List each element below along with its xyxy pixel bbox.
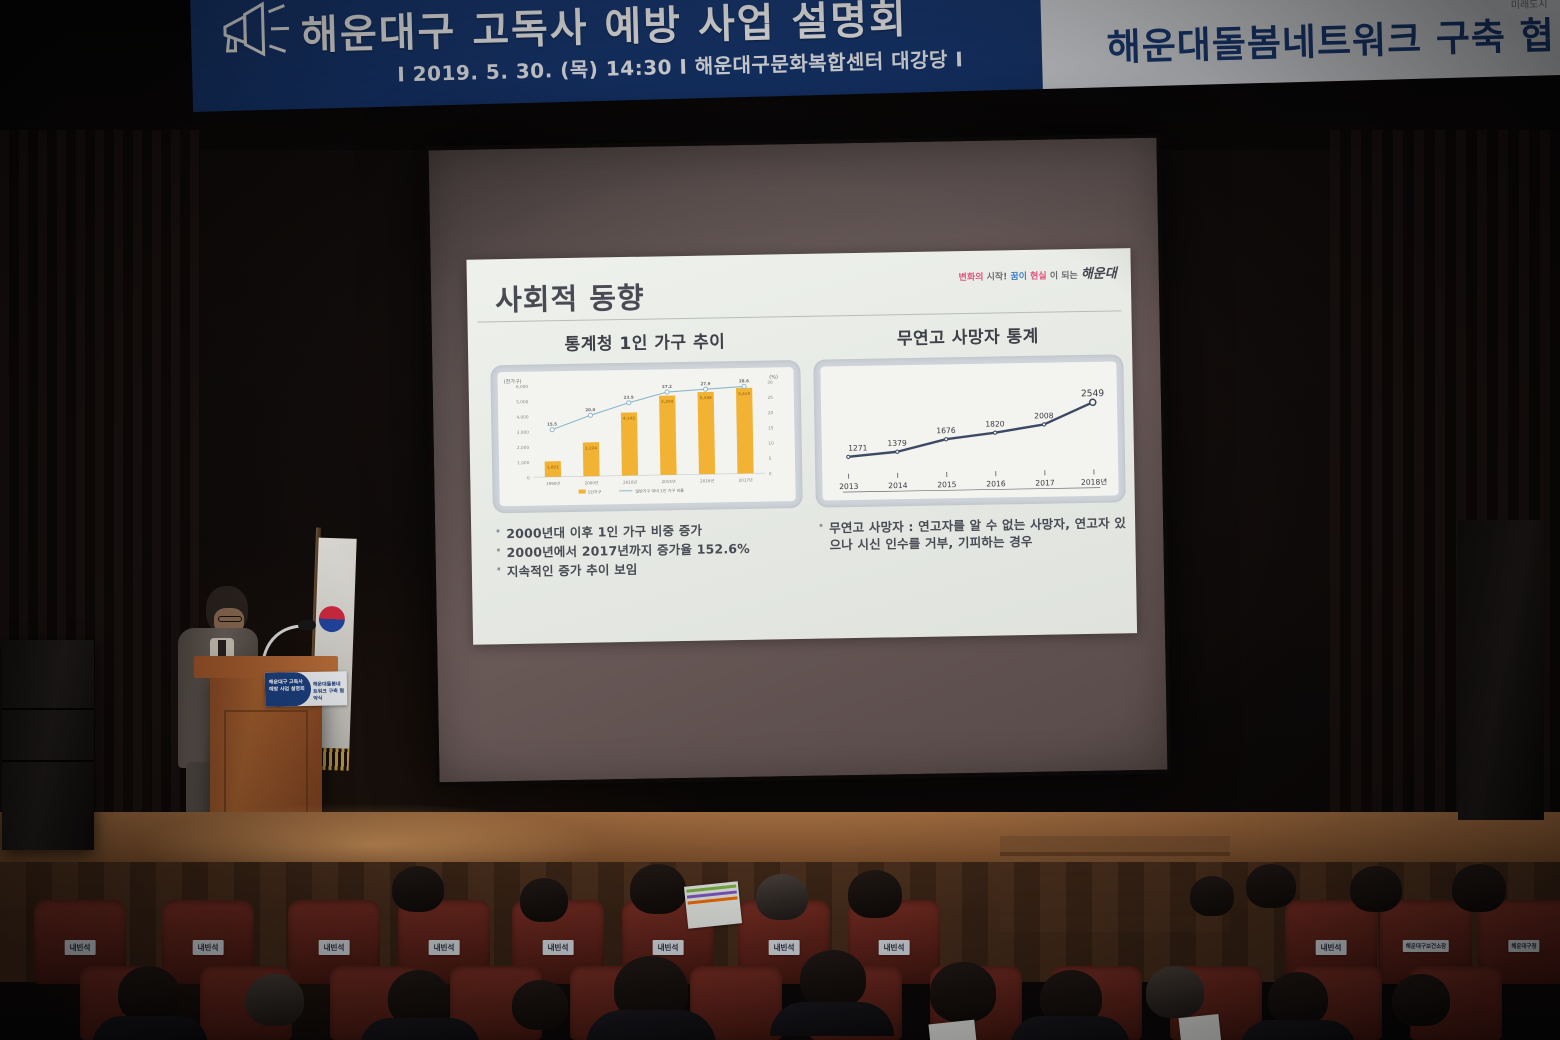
seat-label: 내빈석 (65, 940, 96, 955)
svg-text:2,000: 2,000 (517, 445, 530, 451)
svg-text:4,142: 4,142 (623, 415, 636, 420)
logo-part2: 시작! (987, 272, 1008, 282)
audience-member (520, 878, 568, 922)
svg-text:2015년: 2015년 (662, 478, 676, 484)
audience-shoulders (1240, 1020, 1356, 1040)
slide-title: 사회적 동향 (495, 275, 645, 320)
right-chart-card: 1271137916761820200825492013201420152016… (813, 354, 1126, 507)
audience-member (1246, 864, 1296, 908)
svg-text:30: 30 (767, 380, 773, 386)
svg-text:5,398: 5,398 (700, 395, 713, 400)
svg-text:27.2: 27.2 (662, 384, 672, 389)
logo-part4: 현실 (1030, 272, 1047, 282)
svg-text:2014: 2014 (888, 481, 908, 490)
svg-text:27.9: 27.9 (700, 381, 710, 386)
svg-text:15: 15 (768, 425, 774, 431)
glasses-icon (218, 616, 242, 622)
left-bullet-item: 지속적인 증가 추이 보임 (494, 558, 804, 580)
pa-speaker-left (2, 640, 94, 850)
audience-member (800, 950, 866, 1008)
svg-text:2015: 2015 (937, 480, 957, 489)
seat-label: 내빈석 (319, 940, 350, 955)
lecture-hall-photo: 해운대구 고독사 예방 사업 설명회 Ⅰ 2019. 5. 30. (목) 14… (0, 0, 1560, 1040)
svg-text:2018년: 2018년 (1081, 476, 1107, 486)
svg-text:2000년: 2000년 (585, 479, 599, 485)
svg-text:2,224: 2,224 (585, 445, 598, 450)
seat-label: 해운대구청 (1508, 940, 1539, 952)
left-chart-card: (천가구)(%)6,0005,0004,0003,0002,0001,00003… (490, 360, 803, 513)
svg-text:1820: 1820 (985, 419, 1005, 428)
presentation-slide: 사회적 동향 변화의 시작! 꿈이 현실 이 되는 해운대 통계청 1인 가구 … (466, 248, 1137, 645)
audience-shoulders (586, 1010, 716, 1040)
right-chart-heading: 무연고 사망자 통계 (813, 320, 1123, 350)
svg-text:1990년: 1990년 (546, 480, 560, 486)
svg-text:2017년: 2017년 (739, 476, 753, 482)
svg-text:1,021: 1,021 (547, 464, 560, 469)
svg-text:15.5: 15.5 (547, 422, 557, 427)
svg-text:2549: 2549 (1081, 389, 1105, 399)
seat-label: 내빈석 (429, 940, 460, 955)
audience-seating: 내빈석내빈석내빈석내빈석내빈석내빈석내빈석내빈석내빈석해운대구보건소장해운대구청 (0, 870, 1560, 1040)
svg-text:20.0: 20.0 (585, 407, 595, 412)
audience-member (1190, 876, 1234, 916)
slide-column-left: 통계청 1인 가구 추이 (천가구)(%)6,0005,0004,0003,00… (490, 326, 804, 582)
svg-text:2013: 2013 (839, 482, 859, 491)
audience-shoulders (770, 1002, 894, 1036)
audience-member (930, 962, 996, 1022)
svg-text:2017: 2017 (1035, 478, 1055, 487)
projection-screen: 사회적 동향 변화의 시작! 꿈이 현실 이 되는 해운대 통계청 1인 가구 … (424, 134, 1171, 787)
svg-text:1676: 1676 (936, 426, 956, 435)
audience-member (1146, 966, 1204, 1018)
podium-sign-right-text: 해운대돌봄네트워크 구축 협약식 (313, 681, 345, 703)
svg-text:3,000: 3,000 (517, 430, 530, 436)
logo-part1: 변화의 (959, 273, 984, 283)
audience-member (1268, 972, 1328, 1026)
seat-label: 내빈석 (1316, 940, 1347, 955)
svg-text:1,000: 1,000 (517, 460, 530, 466)
audience-member (848, 870, 902, 918)
audience-shoulders (360, 1018, 480, 1040)
audience-member (756, 874, 808, 920)
audience-member (630, 864, 686, 914)
audience-shoulders (92, 1016, 208, 1040)
svg-text:0: 0 (769, 471, 772, 477)
seat-label: 해운대구보건소장 (1403, 940, 1449, 952)
svg-text:1인가구: 1인가구 (588, 488, 602, 494)
pa-seam-2 (2, 760, 94, 762)
pa-seam-1 (2, 708, 94, 710)
seat-label: 내빈석 (769, 940, 800, 955)
svg-text:23.9: 23.9 (624, 395, 634, 400)
audience-shoulders (1010, 1016, 1130, 1040)
svg-text:28.6: 28.6 (739, 378, 749, 383)
unclaimed-deaths-chart: 1271137916761820200825492013201420152016… (820, 361, 1118, 500)
pa-speaker-right (1458, 520, 1544, 820)
seat-label: 내빈석 (193, 940, 224, 955)
svg-text:일반가구 대비 1인 가구 비율: 일반가구 대비 1인 가구 비율 (635, 487, 684, 494)
svg-text:5,204: 5,204 (661, 399, 674, 404)
svg-text:2016: 2016 (986, 479, 1006, 488)
right-bullet-item: 무연고 사망자 : 연고자를 알 수 없는 사망자, 연고자 있으나 시신 인수… (816, 514, 1127, 553)
audience-member (118, 966, 180, 1022)
one-person-household-chart: (천가구)(%)6,0005,0004,0003,0002,0001,00003… (497, 367, 795, 506)
programme-leaflet (684, 881, 742, 928)
svg-text:0: 0 (527, 475, 530, 481)
presenter-tie (218, 640, 226, 656)
svg-text:5,619: 5,619 (738, 391, 751, 396)
logo-part5: 이 되는 (1050, 271, 1078, 281)
slide-column-right: 무연고 사망자 통계 12711379167618202008254920132… (813, 320, 1127, 555)
programme-leaflet (1179, 1014, 1222, 1040)
svg-text:20: 20 (768, 410, 774, 416)
svg-text:4,000: 4,000 (516, 414, 529, 420)
svg-text:10: 10 (768, 441, 774, 447)
audience-member (512, 980, 568, 1030)
logo-brand: 해운대 (1081, 266, 1117, 282)
podium-sign: 해운대구 고독사 예방 사업 설명회 해운대돌봄네트워크 구축 협약식 (265, 671, 348, 706)
svg-text:25: 25 (768, 395, 774, 401)
right-chart-inner: 1271137916761820200825492013201420152016… (820, 361, 1118, 500)
programme-leaflet (928, 1020, 977, 1040)
svg-text:1379: 1379 (887, 438, 907, 447)
svg-text:2016년: 2016년 (700, 477, 714, 483)
podium-sign-left-text: 해운대구 고독사 예방 사업 설명회 (269, 679, 309, 694)
svg-text:5: 5 (769, 456, 772, 462)
banner-corner-text: 사람중심 미래도시 (1510, 0, 1547, 12)
audience-member (1392, 974, 1450, 1026)
banner-corner-line2: 미래도시 (1511, 0, 1548, 12)
audience-member (1452, 864, 1506, 912)
seat-label: 내빈석 (543, 940, 574, 955)
audience-member (246, 974, 304, 1026)
svg-text:5,000: 5,000 (516, 399, 529, 405)
left-chart-heading: 통계청 1인 가구 추이 (490, 326, 800, 356)
audience-member (1350, 866, 1402, 912)
svg-text:2008: 2008 (1034, 411, 1054, 420)
haeundae-logo: 변화의 시작! 꿈이 현실 이 되는 해운대 (958, 262, 1117, 284)
seat-label: 내빈석 (879, 940, 910, 955)
left-chart-inner: (천가구)(%)6,0005,0004,0003,0002,0001,00003… (497, 367, 795, 506)
left-bullet-list: 2000년대 이후 1인 가구 비중 증가2000년에서 2017년까지 증가율… (493, 520, 804, 580)
svg-text:1271: 1271 (848, 443, 868, 452)
seat-label: 내빈석 (653, 940, 684, 955)
svg-text:2010년: 2010년 (623, 479, 637, 485)
right-bullet-list: 무연고 사망자 : 연고자를 알 수 없는 사망자, 연고자 있으나 시신 인수… (816, 514, 1127, 553)
svg-text:6,000: 6,000 (516, 384, 529, 390)
audience-member (392, 866, 444, 912)
megaphone-icon (210, 0, 304, 67)
logo-part3: 꿈이 (1010, 272, 1027, 282)
